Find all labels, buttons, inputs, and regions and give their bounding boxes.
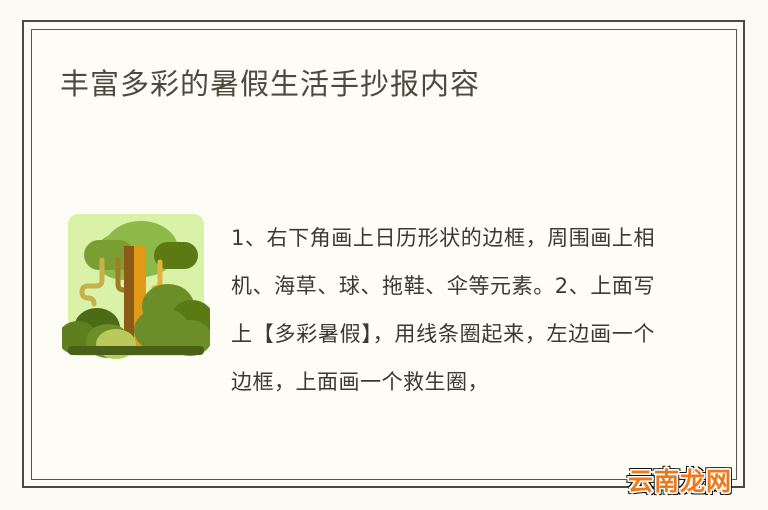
tree-illustration-svg [62,210,210,360]
tree-illustration [62,210,210,360]
site-watermark: 云南龙网 [628,462,732,498]
page-title: 丰富多彩的暑假生活手抄报内容 [60,63,700,105]
article-body-text: 1、右下角画上日历形状的边框，周围画上相机、海草、球、拖鞋、伞等元素。2、上面写… [231,214,655,406]
page-root: 丰富多彩的暑假生活手抄报内容 [0,0,768,510]
